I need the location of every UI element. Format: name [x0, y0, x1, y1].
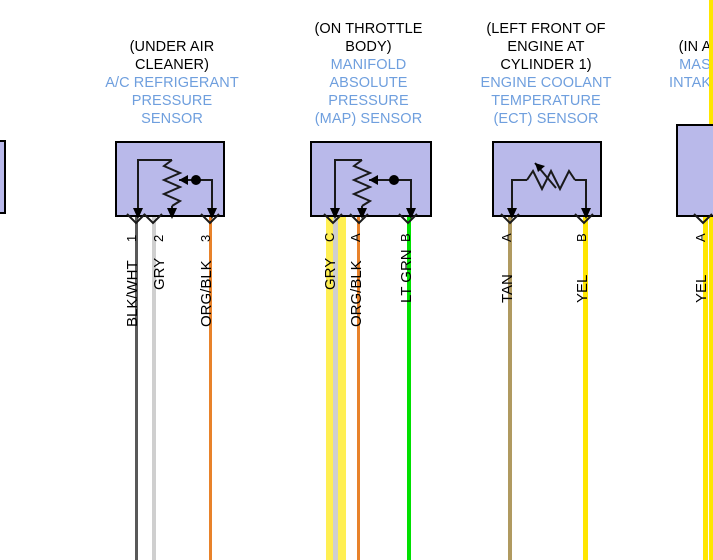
location-line-2: BODY)	[291, 38, 446, 56]
pin-letter-b-ect: B	[574, 233, 589, 242]
sensor-caption-maf: (IN A MAS INTAKE	[640, 38, 713, 92]
partial-left-line1: M,	[0, 38, 14, 56]
location-line-1: (LEFT FRONT OF	[466, 20, 626, 38]
wire-tan	[508, 214, 512, 560]
thermistor-symbol	[494, 143, 604, 219]
pin-number-2: 2	[151, 235, 166, 242]
partial-left-name-line: E	[0, 110, 12, 128]
sensor-box-maf: MAF SENS	[676, 124, 713, 217]
sensor-name-line-3: (ECT) SENSOR	[466, 110, 626, 128]
connector-terminals-maf	[678, 214, 713, 230]
wire-label-tan: TAN	[499, 274, 516, 303]
sensor-name-line-2: TEMPERATURE	[466, 92, 626, 110]
sensor-caption-ect: (LEFT FRONT OF ENGINE AT CYLINDER 1) ENG…	[466, 20, 626, 128]
potentiometer-symbol	[117, 143, 227, 219]
sensor-caption-map: (ON THROTTLE BODY) MANIFOLD ABSOLUTE PRE…	[291, 20, 446, 128]
location-line-1: (IN A	[640, 38, 713, 56]
sensor-box-partial-left	[0, 140, 6, 214]
pin-letter-a-ect: A	[499, 233, 514, 242]
sensor-name-line-1: A/C REFRIGERANT	[92, 74, 252, 92]
pin-letter-a-map: A	[348, 233, 363, 242]
wire-yel-ect	[583, 214, 588, 560]
sensor-name-line-1: MANIFOLD	[291, 56, 446, 74]
sensor-box-ect	[492, 141, 602, 217]
sensor-name-line-1: ENGINE COOLANT	[466, 74, 626, 92]
wire-label-gry-1: GRY	[151, 258, 168, 290]
sensor-name-line-2: ABSOLUTE	[291, 74, 446, 92]
pin-letter-c: C	[322, 233, 337, 242]
wire-yel-maf	[703, 214, 708, 560]
sensor-caption-ac-refrigerant: (UNDER AIR CLEANER) A/C REFRIGERANT PRES…	[92, 38, 252, 128]
partial-left-name: E	[0, 110, 12, 128]
partial-left-line2: C	[0, 56, 14, 74]
wire-label-lt-grn: LT GRN	[398, 249, 415, 303]
sensor-name-line-3: SENSOR	[92, 110, 252, 128]
connector-terminals-ect	[487, 214, 602, 230]
wire-label-yel-maf: YEL	[693, 275, 710, 303]
wire-label-gry-2: GRY	[322, 258, 339, 290]
wire-label-yel-ect: YEL	[574, 275, 591, 303]
pin-letter-a-maf: A	[693, 233, 708, 242]
connector-terminals-map	[305, 214, 430, 230]
pin-letter-b-map: B	[398, 233, 413, 242]
location-line-1: (UNDER AIR	[92, 38, 252, 56]
location-line-2: CLEANER)	[92, 56, 252, 74]
sensor-name-line-4: (MAP) SENSOR	[291, 110, 446, 128]
location-line-2: ENGINE AT	[466, 38, 626, 56]
connector-terminals-ac-refrigerant	[110, 214, 230, 230]
pin-number-3: 3	[198, 235, 213, 242]
partial-left-location: M, C	[0, 38, 14, 74]
wire-label-org-blk-2: ORG/BLK	[348, 260, 365, 327]
location-line-1: (ON THROTTLE	[291, 20, 446, 38]
wire-label-org-blk-1: ORG/BLK	[198, 260, 215, 327]
sensor-box-ac-refrigerant	[115, 141, 225, 217]
wire-label-blk-wht: BLK/WHT	[124, 260, 141, 327]
sensor-name-line-1: MAS	[640, 56, 713, 74]
sensor-name-line-2: PRESSURE	[92, 92, 252, 110]
sensor-name-line-2: INTAKE	[640, 74, 713, 92]
location-line-3: CYLINDER 1)	[466, 56, 626, 74]
sensor-name-line-3: PRESSURE	[291, 92, 446, 110]
potentiometer-symbol	[312, 143, 434, 219]
sensor-box-map	[310, 141, 432, 217]
wiring-diagram-canvas: M, C E (UNDER AIR CLEANER) A/C REFRIGERA…	[0, 0, 713, 560]
pin-number-1: 1	[124, 235, 139, 242]
